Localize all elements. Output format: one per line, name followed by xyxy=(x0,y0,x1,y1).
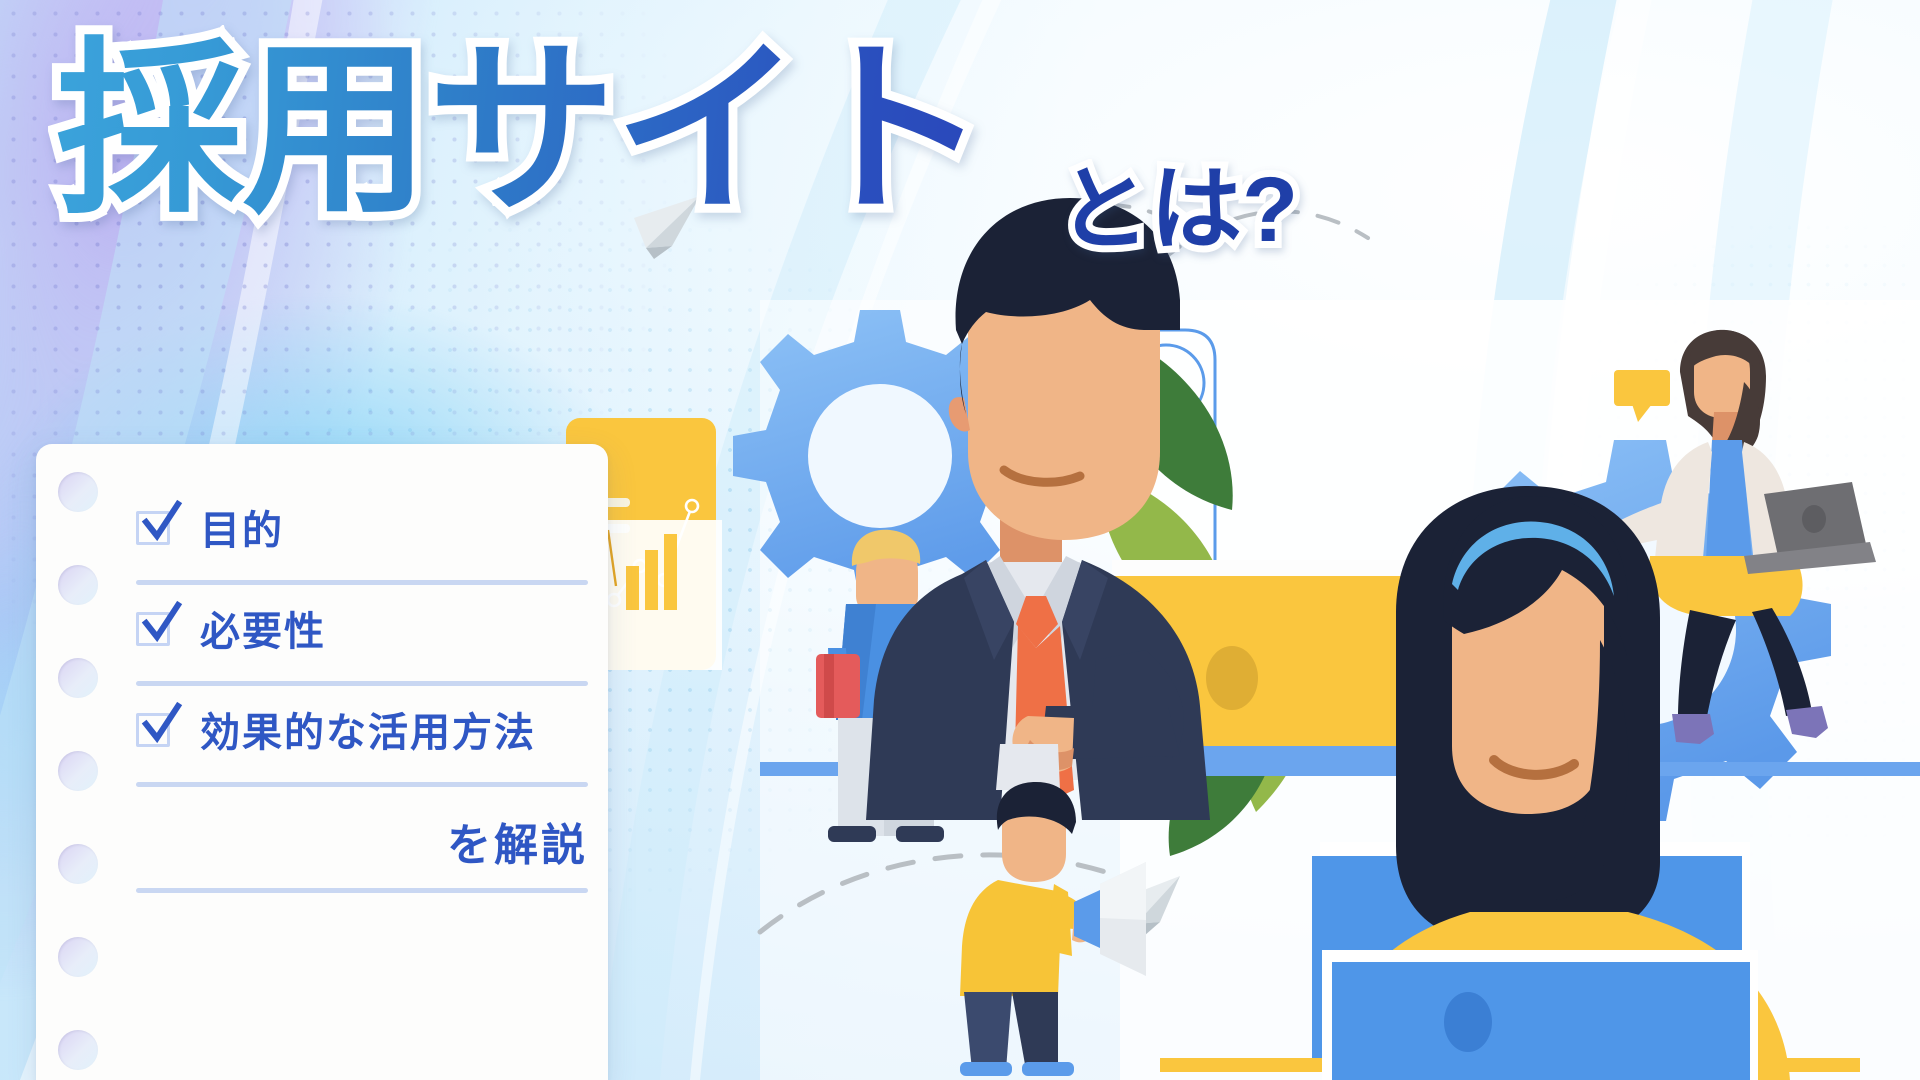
checkbox-checked-icon[interactable] xyxy=(136,609,174,647)
punch-hole xyxy=(58,472,98,512)
checklist-rows: 目的必要性効果的な活用方法を解説 xyxy=(136,484,588,899)
punch-hole xyxy=(58,937,98,977)
checkmark-icon xyxy=(138,603,182,647)
checklist-item-label: 効果的な活用方法 xyxy=(200,700,536,758)
punch-hole xyxy=(58,658,98,698)
checklist-footer: を解説 xyxy=(136,787,588,899)
checkbox-checked-icon[interactable] xyxy=(136,710,174,748)
punch-hole xyxy=(58,751,98,791)
checkmark-icon xyxy=(138,502,182,546)
speech-bubble-icon xyxy=(1614,370,1670,422)
checklist-divider xyxy=(136,888,588,893)
checklist-footer-label: を解説 xyxy=(447,809,588,873)
man-with-megaphone-figure xyxy=(960,782,1146,1076)
checkmark-icon xyxy=(138,704,182,748)
checkbox-checked-icon[interactable] xyxy=(136,508,174,546)
checklist-item-label: 必要性 xyxy=(200,599,326,657)
checklist-item[interactable]: 必要性 xyxy=(136,585,588,686)
punch-hole xyxy=(58,565,98,605)
checklist-item[interactable]: 効果的な活用方法 xyxy=(136,686,588,787)
punch-hole-column xyxy=(58,472,118,1072)
checklist-card: 目的必要性効果的な活用方法を解説 xyxy=(36,444,608,1080)
checklist-item-label: 目的 xyxy=(200,498,284,556)
punch-hole xyxy=(58,1030,98,1070)
businessman-figure xyxy=(866,198,1210,820)
punch-hole xyxy=(58,844,98,884)
checklist-item[interactable]: 目的 xyxy=(136,484,588,585)
banner-canvas: 採用サイト 採用サイト とは? とは? 目的必要性効果的な活用方法を解説 xyxy=(0,0,1920,1080)
